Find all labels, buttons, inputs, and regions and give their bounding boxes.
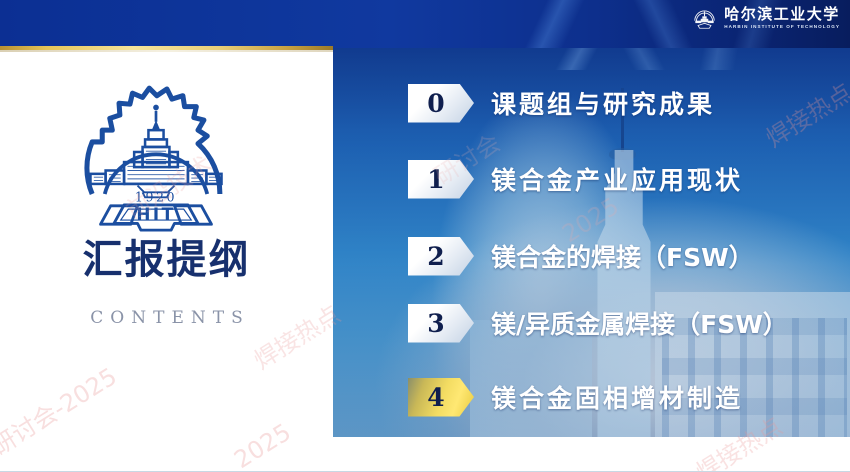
gold-divider-shadow: [0, 50, 333, 52]
contents-item-4[interactable]: 4 镁合金固相增材制造: [333, 375, 850, 419]
university-name-cn: 哈尔滨工业大学: [724, 7, 840, 22]
contents-label-3: 镁/异质金属焊接（FSW）: [491, 305, 788, 341]
contents-number-2: 2: [427, 244, 444, 269]
slide-canvas: 哈尔滨工业大学 HARBIN INSTITUTE OF TECHNOLOGY: [0, 0, 850, 472]
hit-emblem-logo: 1920 HIT: [72, 68, 240, 236]
logo-abbr-text: HIT: [136, 204, 175, 224]
contents-number-badge-4: 4: [408, 378, 474, 417]
university-mark: 哈尔滨工业大学 HARBIN INSTITUTE OF TECHNOLOGY: [691, 5, 840, 32]
contents-list: 0 课题组与研究成果 1 镁合金产业应用现状 2 镁合金的焊接（FSW） 3 镁…: [333, 48, 850, 437]
contents-number-1: 1: [427, 167, 444, 192]
contents-item-2[interactable]: 2 镁合金的焊接（FSW）: [333, 234, 850, 278]
contents-number-3: 3: [427, 311, 444, 336]
university-name-block: 哈尔滨工业大学 HARBIN INSTITUTE OF TECHNOLOGY: [724, 7, 840, 30]
page-subtitle: CONTENTS: [0, 308, 333, 328]
contents-item-1[interactable]: 1 镁合金产业应用现状: [333, 157, 850, 201]
hit-seal-icon: [691, 5, 718, 32]
contents-label-1: 镁合金产业应用现状: [491, 161, 743, 197]
contents-number-badge-1: 1: [408, 160, 474, 199]
contents-item-3[interactable]: 3 镁/异质金属焊接（FSW）: [333, 301, 850, 345]
contents-number-0: 0: [427, 91, 444, 116]
contents-label-2: 镁合金的焊接（FSW）: [491, 238, 754, 274]
contents-item-0[interactable]: 0 课题组与研究成果: [333, 81, 850, 125]
contents-number-badge-0: 0: [408, 84, 474, 123]
bottom-margin-area: [333, 437, 850, 472]
contents-label-0: 课题组与研究成果: [491, 85, 715, 121]
page-title: 汇报提纲: [0, 238, 333, 282]
logo-year-text: 1920: [135, 190, 177, 205]
contents-label-4: 镁合金固相增材制造: [491, 379, 743, 415]
contents-number-badge-2: 2: [408, 237, 474, 276]
contents-number-badge-3: 3: [408, 304, 474, 343]
university-name-en: HARBIN INSTITUTE OF TECHNOLOGY: [724, 25, 840, 30]
contents-number-4: 4: [427, 385, 444, 410]
